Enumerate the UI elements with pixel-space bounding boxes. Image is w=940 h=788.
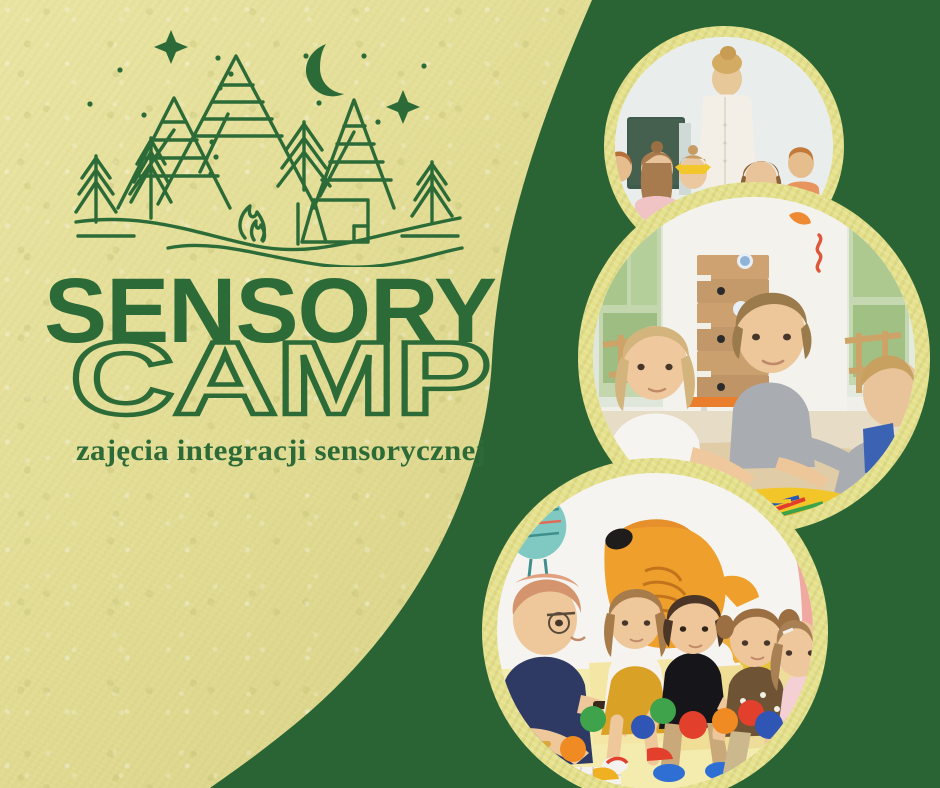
ball-red bbox=[679, 711, 707, 739]
pine-tree-icon bbox=[131, 138, 171, 218]
title-camp: CAMP bbox=[70, 321, 490, 437]
photo-sensory-ball-circle bbox=[497, 473, 813, 788]
photo-circle-sensory-ball-circle bbox=[482, 458, 828, 788]
ground-line bbox=[76, 218, 460, 250]
ball-blue bbox=[755, 711, 783, 739]
mountain-center-icon bbox=[158, 56, 314, 204]
tent-icon bbox=[298, 200, 368, 244]
mountain-right-icon bbox=[314, 100, 394, 208]
mountain-left-icon bbox=[118, 98, 230, 208]
ball-blue bbox=[631, 715, 655, 739]
camp-line-art-emblem bbox=[58, 22, 478, 267]
ball-orange bbox=[560, 736, 586, 762]
campfire-icon bbox=[240, 206, 264, 241]
sensory-camp-poster: SENSORY CAMP zajęcia integracji sensoryc… bbox=[0, 0, 940, 788]
pine-tree-icon bbox=[76, 156, 116, 222]
subtitle: zajęcia integracji sensorycznej bbox=[76, 434, 486, 467]
ball-green bbox=[580, 706, 606, 732]
ball-orange bbox=[712, 708, 738, 734]
crescent-moon-icon bbox=[306, 44, 344, 96]
wordmark: SENSORY CAMP zajęcia integracji sensoryc… bbox=[44, 262, 514, 492]
star-icon bbox=[386, 90, 420, 124]
ball-green bbox=[650, 698, 676, 724]
star-icon bbox=[154, 30, 188, 64]
pine-tree-icon bbox=[412, 162, 452, 222]
